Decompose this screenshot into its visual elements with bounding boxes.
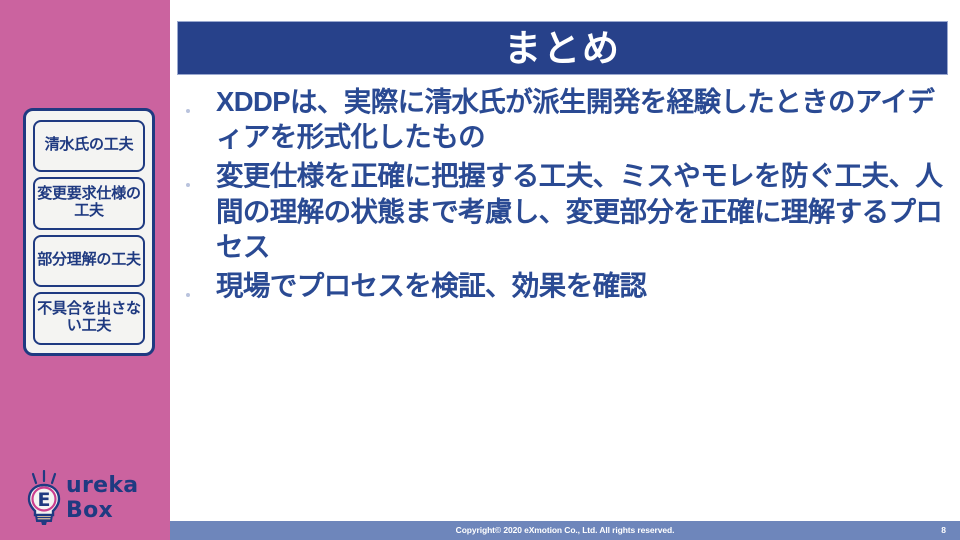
logo-letter-e: E [38, 489, 51, 511]
list-item: XDDPは、実際に清水氏が派生開発を経験したときのアイディアを形式化したもの [186, 84, 948, 154]
sidebar-item-label: 部分理解の工夫 [37, 252, 141, 269]
presentation-slide: 清水氏の工夫 変更要求仕様の工夫 部分理解の工夫 不具合を出さない工夫 [0, 0, 960, 540]
sidebar-item-change-request-spec-kufu[interactable]: 変更要求仕様の工夫 [33, 177, 145, 230]
copyright-text: Copyright© 2020 eXmotion Co., Ltd. All r… [170, 521, 960, 540]
bullet-marker-icon [186, 158, 216, 192]
sidebar-item-shimizu-kufu[interactable]: 清水氏の工夫 [33, 120, 145, 173]
logo-wordmark: ureka Box [66, 473, 164, 523]
sidebar-item-label: 不具合を出さない工夫 [37, 301, 141, 335]
list-item: 変更仕様を正確に把握する工夫、ミスやモレを防ぐ工夫、人間の理解の状態まで考慮し、… [186, 158, 948, 264]
list-item: 現場でプロセスを検証、効果を確認 [186, 268, 948, 303]
bullet-text: 現場でプロセスを検証、効果を確認 [216, 268, 948, 303]
page-title: まとめ [504, 30, 621, 67]
sidebar-item-defect-prevention-kufu[interactable]: 不具合を出さない工夫 [33, 292, 145, 345]
slide-footer: Copyright© 2020 eXmotion Co., Ltd. All r… [170, 521, 960, 540]
lightbulb-icon: E [24, 470, 70, 526]
bullet-marker-icon [186, 268, 216, 302]
bullet-text: 変更仕様を正確に把握する工夫、ミスやモレを防ぐ工夫、人間の理解の状態まで考慮し、… [216, 158, 948, 264]
page-number: 8 [941, 521, 946, 540]
slide-title-bar: まとめ [177, 21, 948, 75]
sidebar-item-label: 変更要求仕様の工夫 [37, 186, 141, 220]
sidebar-stack-container: 清水氏の工夫 変更要求仕様の工夫 部分理解の工夫 不具合を出さない工夫 [23, 108, 155, 356]
sidebar-item-partial-understanding-kufu[interactable]: 部分理解の工夫 [33, 235, 145, 288]
eureka-box-logo: E ureka Box [24, 468, 164, 528]
bullet-text: XDDPは、実際に清水氏が派生開発を経験したときのアイディアを形式化したもの [216, 84, 948, 154]
bullet-marker-icon [186, 84, 216, 118]
bullet-list: XDDPは、実際に清水氏が派生開発を経験したときのアイディアを形式化したもの 変… [186, 84, 948, 307]
sidebar-item-label: 清水氏の工夫 [45, 137, 134, 154]
